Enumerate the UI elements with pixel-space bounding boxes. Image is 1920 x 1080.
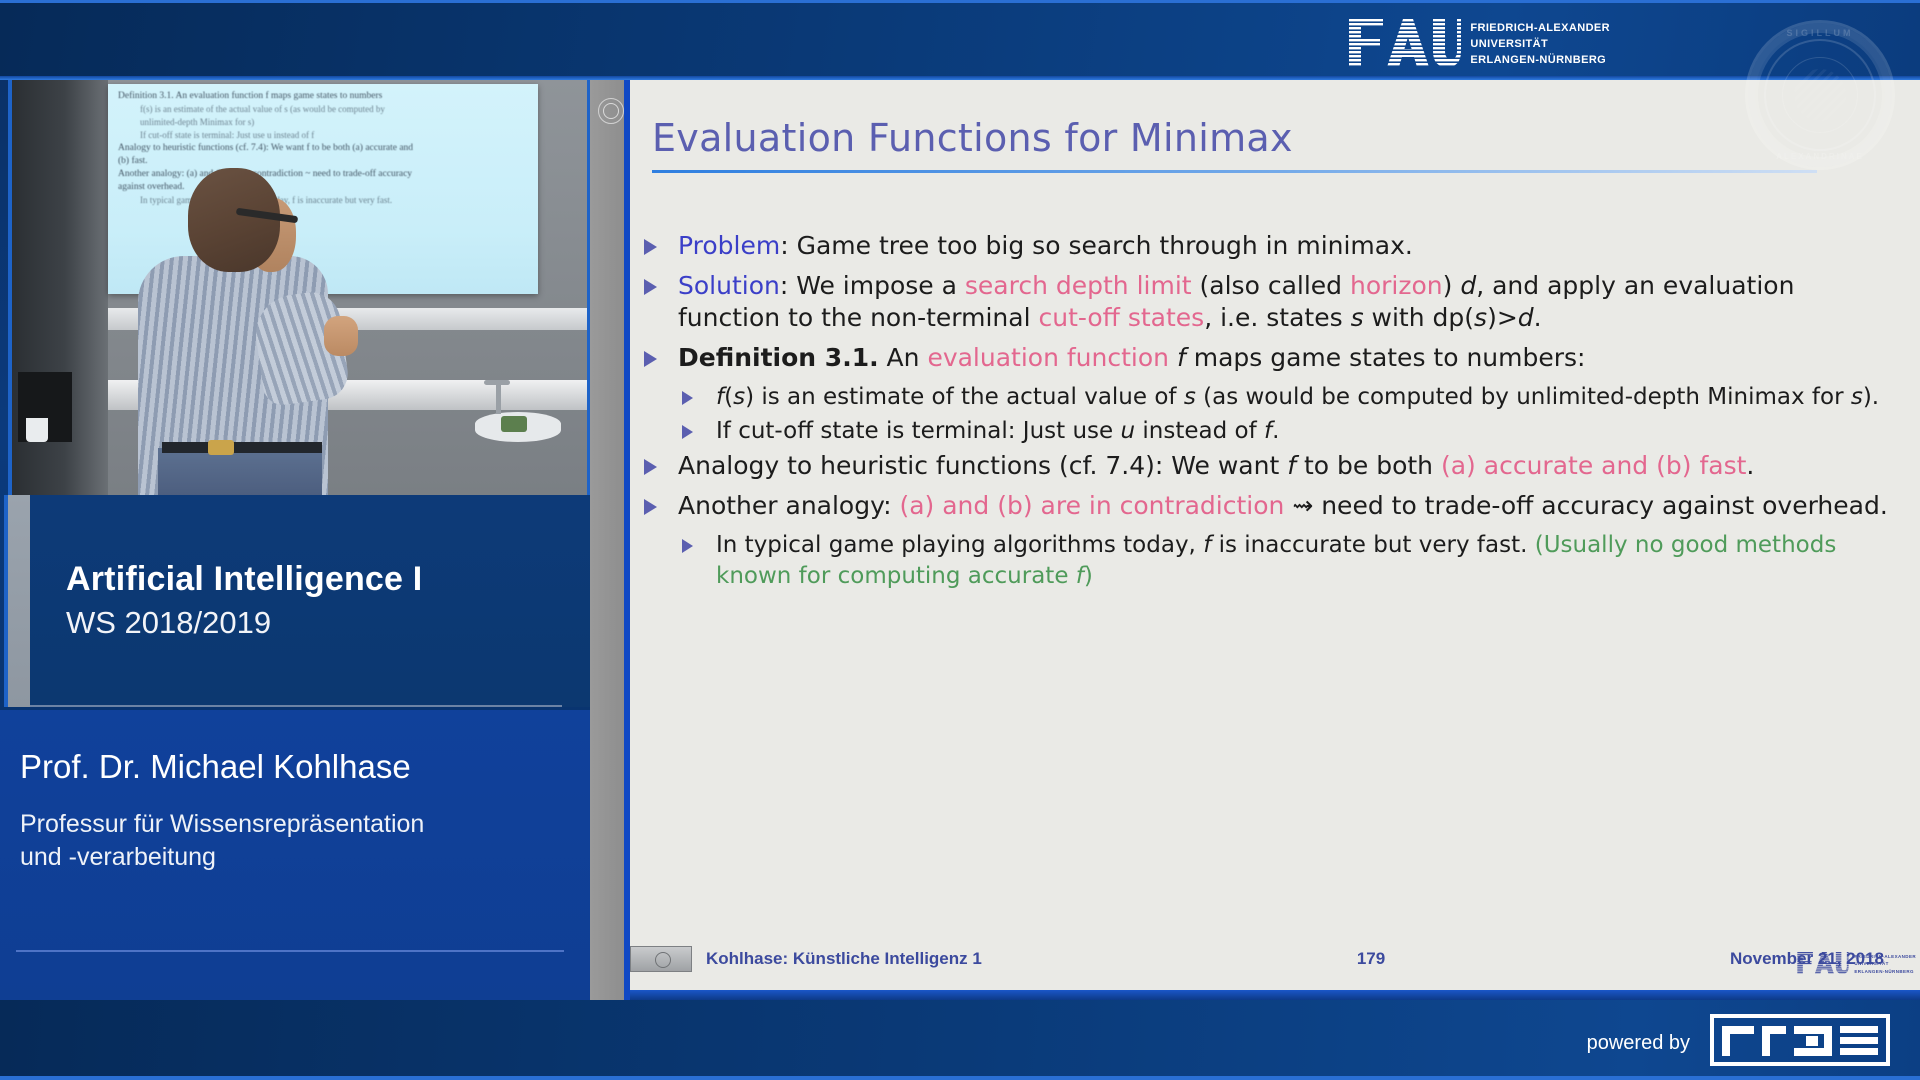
faucet [496,380,501,414]
bullet-triangle-icon [644,351,657,367]
slide-footer-icon [630,946,692,972]
cup [26,418,48,442]
presenter-name: Prof. Dr. Michael Kohlhase [20,748,411,786]
bullet-text-run: )> [1487,303,1518,332]
slide-side-bar [590,80,624,1000]
lecturer-belt [162,442,322,453]
slide-bullet-level-1: Another analogy: (a) and (b) are in cont… [636,490,1901,522]
bullet-text-run: ). [1863,384,1879,410]
bullet-text-run: : Game tree too big so search through in… [780,231,1413,260]
bullet-text-run: s [1474,303,1487,332]
fau-wordmark-icon [1796,952,1850,974]
bullet-text-run: f [1287,451,1296,480]
bullet-text-run: to be both [1296,451,1441,480]
projected-line: If cut-off state is terminal: Just use u… [118,129,528,142]
projected-line: against overhead. [118,181,528,194]
fau-logo-line-3: ERLANGEN-NÜRNBERG [1470,51,1610,67]
bullet-triangle-icon [644,239,657,255]
slide-bullet-level-1: Problem: Game tree too big so search thr… [636,230,1901,262]
rrze-logo-icon [1710,1014,1890,1066]
slide-page-number: 179 [1266,949,1476,969]
bullet-text-run: f [1264,418,1272,444]
slide-bullet-level-2: If cut-off state is terminal: Just use u… [676,416,1901,447]
bullet-text-run: Solution [678,271,780,300]
fau-logo-line-2: UNIVERSITÄT [1470,35,1610,51]
green-object [501,416,527,432]
bullet-text-run: u [1120,418,1135,444]
bullet-text-run: s [1351,303,1364,332]
bullet-text-run: ⇝ need to trade-off accuracy against ove… [1284,491,1887,520]
bullet-text-run: maps game states to numbers: [1186,343,1586,372]
bullet-triangle-icon [644,499,657,515]
lecturer-jeans [158,448,322,495]
projected-line: Another analogy: (a) and (b) are in cont… [118,168,528,181]
lecture-title-block: Artificial Intelligence I WS 2018/2019 [8,495,590,707]
divider [16,950,564,952]
slide-bullet-level-2: In typical game playing algorithms today… [676,530,1901,592]
lecture-term: WS 2018/2019 [66,605,271,641]
fau-wordmark-icon [1349,19,1461,67]
bullet-text-run: f [1076,563,1084,589]
slide-fau-logo: FRIEDRICH-ALEXANDER UNIVERSITÄT ERLANGEN… [1796,952,1916,975]
lecturer-video[interactable]: Definition 3.1. An evaluation function f… [8,80,590,495]
bullet-text-run: In typical game playing algorithms today… [716,532,1203,558]
bullet-triangle-icon [682,539,693,553]
bullet-text-run: (a) and (b) are in contradiction [899,491,1284,520]
slide-fau-line-3: ERLANGEN-NÜRNBERG [1854,967,1916,975]
bullet-text-run: s [733,384,745,410]
presenter-block: Prof. Dr. Michael Kohlhase Professur für… [0,710,590,1000]
slide-bullet-level-1: Analogy to heuristic functions (cf. 7.4)… [636,450,1901,482]
presenter-role-line-2: und -verarbeitung [20,843,216,872]
projected-line: (b) fast. [118,155,528,168]
bullet-text-run: (a) accurate and (b) fast [1441,451,1746,480]
bullet-text-run: horizon [1350,271,1443,300]
bullet-text-run: f [716,384,724,410]
bullet-text-run: instead of [1135,418,1264,444]
bullet-text-run: d [1518,303,1534,332]
bullet-text-run: (also called [1192,271,1350,300]
bullet-text-run [1169,343,1177,372]
slide-footer: Kohlhase: Künstliche Intelligenz 1 179 N… [630,942,1920,976]
bullet-text-run: s [1184,384,1196,410]
fau-logo-line-1: FRIEDRICH-ALEXANDER [1470,19,1610,35]
bullet-text-run: . [1534,303,1542,332]
presenter-role-line-1: Professur für Wissensrepräsentation [20,810,424,839]
bullet-text-run: Problem [678,231,780,260]
projected-line: Definition 3.1. An evaluation function f… [118,90,528,103]
divider [30,705,562,707]
left-column: Definition 3.1. An evaluation function f… [0,80,590,1000]
slide-side-accent [624,80,630,1000]
bullet-text-run: evaluation function [927,343,1169,372]
bullet-triangle-icon [644,459,657,475]
slide-bullet-level-1: Definition 3.1. An evaluation function f… [636,342,1901,374]
projected-line: unlimited-depth Minimax for s) [118,116,528,129]
bullet-triangle-icon [644,279,657,295]
slide-fau-line-1: FRIEDRICH-ALEXANDER [1854,952,1916,960]
bullet-text-run: Another analogy: [678,491,899,520]
bullet-text-run: ) is an estimate of the actual value of [745,384,1184,410]
lecturer-head [188,168,280,272]
bullet-text-run: Analogy to heuristic functions (cf. 7.4)… [678,451,1287,480]
fau-logo-text: FRIEDRICH-ALEXANDER UNIVERSITÄT ERLANGEN… [1461,19,1610,80]
bullet-text-run: s [1851,384,1863,410]
slide-footer-course: Kohlhase: Künstliche Intelligenz 1 [706,949,1266,969]
lecturer-belt-buckle [208,440,234,455]
bullet-triangle-icon [682,425,693,439]
bullet-text-run: : We impose a [780,271,965,300]
slide-fau-line-2: UNIVERSITÄT [1854,959,1916,967]
lecturer-hand [324,316,358,356]
bullet-text-run: cut-off states [1038,303,1204,332]
page-header: FRIEDRICH-ALEXANDER UNIVERSITÄT ERLANGEN… [0,0,1920,80]
projected-line: In typical game playing algorithms today… [118,194,528,207]
bullet-text-run: ) [1443,271,1461,300]
bullet-text-run: . [1272,418,1279,444]
slide-title-rule [652,170,1817,173]
projected-line: Analogy to heuristic functions (cf. 7.4)… [118,142,528,155]
bullet-text-run: d [1460,271,1476,300]
powered-by-label: powered by [1587,1032,1690,1055]
bullet-text-run: f [1177,343,1186,372]
fau-logo: FRIEDRICH-ALEXANDER UNIVERSITÄT ERLANGEN… [1349,19,1610,80]
slide-bullet-level-2: f(s) is an estimate of the actual value … [676,382,1901,413]
bullet-text-run: is inaccurate but very fast. [1211,532,1534,558]
bullet-text-run: Definition 3.1. [678,343,879,372]
bullet-triangle-icon [682,391,693,405]
slide-title: Evaluation Functions for Minimax [652,116,1293,160]
bullet-text-run: If cut-off state is terminal: Just use [716,418,1120,444]
bullet-text-run: with dp( [1364,303,1474,332]
bullet-text-run: . [1746,451,1754,480]
bullet-text-run: search depth limit [965,271,1192,300]
lecture-title: Artificial Intelligence I [66,560,422,599]
bullet-text-run: (as would be computed by unlimited-depth… [1196,384,1851,410]
page-footer: powered by [0,1000,1920,1080]
slide-bottom-accent [630,990,1920,1000]
projected-line: f(s) is an estimate of the actual value … [118,103,528,116]
bullet-text-run: An [879,343,928,372]
slide-bullet-level-1: Solution: We impose a search depth limit… [636,270,1901,334]
slide-body: Problem: Game tree too big so search thr… [636,230,1901,595]
bullet-text-run: ( [724,384,733,410]
bullet-text-run: , i.e. states [1204,303,1350,332]
title-accent-bar [8,495,30,707]
bullet-text-run: ) [1084,563,1093,589]
lecture-recording-page: FRIEDRICH-ALEXANDER UNIVERSITÄT ERLANGEN… [0,0,1920,1080]
slide-view[interactable]: Evaluation Functions for Minimax Problem… [590,80,1920,1000]
slide-seal-icon [598,98,624,124]
